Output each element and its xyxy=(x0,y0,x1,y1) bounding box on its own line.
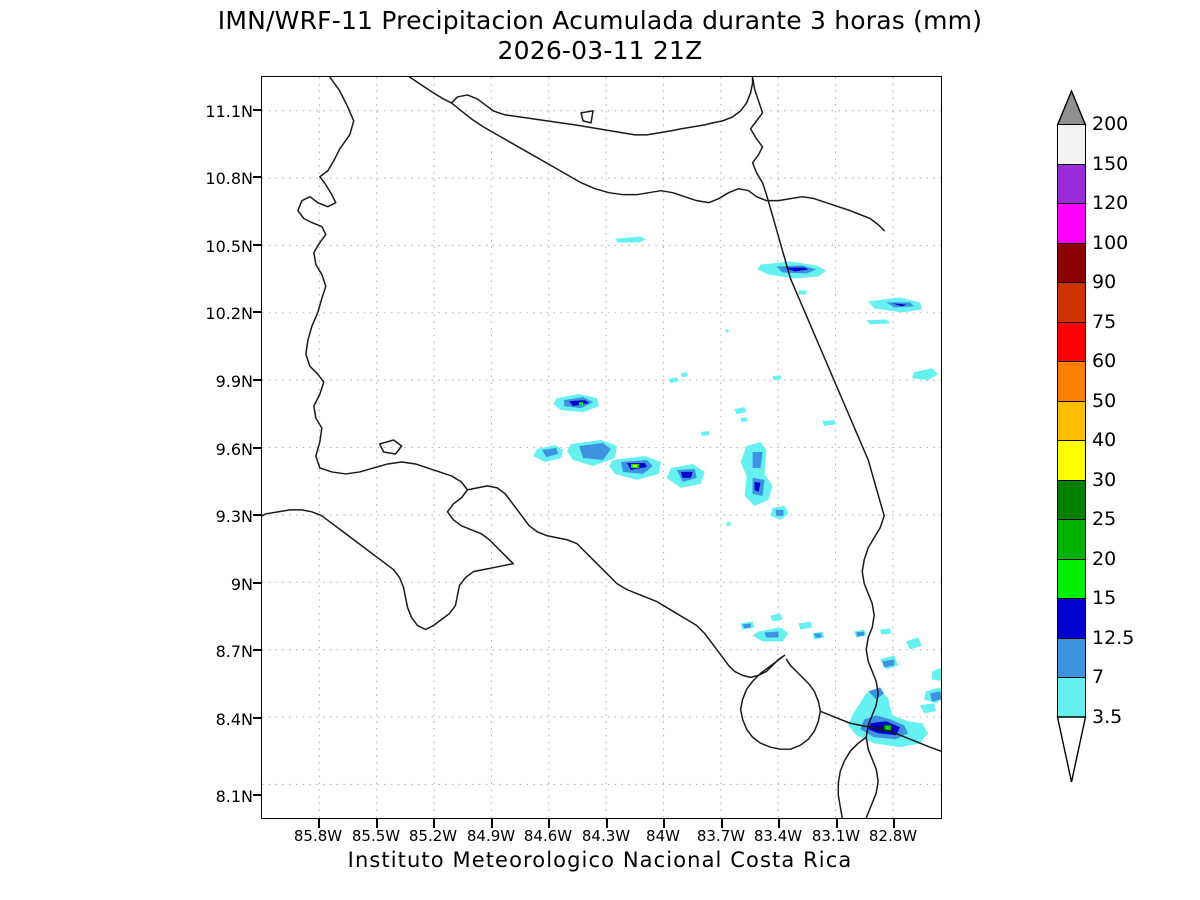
x-axis-label: 84.9W xyxy=(461,827,521,845)
colorbar-segment-25-30 xyxy=(1057,480,1086,520)
y-axis-tick xyxy=(253,379,262,381)
colorbar-tick-200: 200 xyxy=(1092,115,1128,134)
y-axis-label: 9.3N xyxy=(198,507,253,526)
y-axis-tick xyxy=(253,514,262,516)
map-plot-area xyxy=(261,76,942,819)
colorbar-tick-30: 30 xyxy=(1092,471,1116,490)
precip-cell-dot-b xyxy=(701,431,731,526)
colorbar-tick-90: 90 xyxy=(1092,273,1116,292)
colorbar-tick-25: 25 xyxy=(1092,510,1116,529)
precip-cordillera-c xyxy=(667,464,705,488)
y-axis-label: 8.7N xyxy=(198,642,253,661)
precip-pacific-central xyxy=(553,394,599,412)
colorbar-segment-150-200 xyxy=(1057,124,1086,164)
figure-title: IMN/WRF-11 Precipitacion Acumulada duran… xyxy=(0,6,1200,66)
colorbar-tick-150: 150 xyxy=(1092,155,1128,174)
x-axis-label: 84.3W xyxy=(576,827,636,845)
y-axis-tick xyxy=(253,649,262,651)
x-axis-label: 85.2W xyxy=(403,827,463,845)
y-axis-tick xyxy=(253,109,262,111)
y-axis-tick xyxy=(253,311,262,313)
colorbar-bar xyxy=(1057,124,1086,756)
colorbar-segment-75-90 xyxy=(1057,282,1086,322)
colorbar-bottom-arrow-icon xyxy=(1052,716,1091,784)
precip-cordillera-core xyxy=(609,456,661,480)
colorbar-segment-40-50 xyxy=(1057,401,1086,441)
colorbar-tick-100: 100 xyxy=(1092,234,1128,253)
x-axis-label: 82.8W xyxy=(863,827,923,845)
y-axis-label: 8.4N xyxy=(198,710,253,729)
precip-ne-corner xyxy=(912,368,938,380)
precip-osa-coast xyxy=(753,628,789,642)
colorbar-segment-90-100 xyxy=(1057,243,1086,283)
precip-cell-isolated-south xyxy=(771,506,789,520)
y-axis-tick xyxy=(253,582,262,584)
weather-map-figure: IMN/WRF-11 Precipitacion Acumulada duran… xyxy=(0,0,1200,900)
colorbar-tick-50: 50 xyxy=(1092,392,1116,411)
colorbar-segment-12.5-15 xyxy=(1057,598,1086,638)
y-axis-label: 8.1N xyxy=(198,787,253,806)
precip-cordillera-a xyxy=(533,445,563,462)
colorbar-tick-20: 20 xyxy=(1092,550,1116,569)
x-axis-label: 83.1W xyxy=(806,827,866,845)
y-axis-label: 10.5N xyxy=(198,237,253,256)
colorbar-segment-3.5-7 xyxy=(1057,677,1086,717)
colorbar-top-arrow-icon xyxy=(1052,90,1091,126)
y-axis-label: 9.9N xyxy=(198,372,253,391)
precip-panama-core xyxy=(848,687,928,747)
colorbar-tick-3.5: 3.5 xyxy=(1092,708,1122,727)
y-axis-label: 10.2N xyxy=(198,304,253,323)
precip-caribbean-north xyxy=(758,262,827,279)
x-axis-label: 85.5W xyxy=(346,827,406,845)
colorbar-segment-100-120 xyxy=(1057,203,1086,243)
precip-east-offshore-cells xyxy=(741,614,941,714)
colorbar-tick-40: 40 xyxy=(1092,431,1116,450)
title-line-1: IMN/WRF-11 Precipitacion Acumulada duran… xyxy=(0,6,1200,36)
colorbar-tick-7: 7 xyxy=(1092,668,1104,687)
precip-caribbean-east-dot xyxy=(798,290,806,294)
y-axis-tick xyxy=(253,717,262,719)
x-axis-label: 84W xyxy=(637,827,689,845)
y-axis-tick xyxy=(253,794,262,796)
colorbar-segment-7-12.5 xyxy=(1057,638,1086,678)
precip-dot-a xyxy=(726,329,729,332)
y-axis-label: 10.8N xyxy=(198,169,253,188)
y-axis-tick xyxy=(253,244,262,246)
y-axis-tick xyxy=(253,447,262,449)
y-axis-label: 11.1N xyxy=(198,102,253,121)
colorbar-segment-50-60 xyxy=(1057,361,1086,401)
colorbar-segment-30-40 xyxy=(1057,440,1086,480)
precip-se-specks xyxy=(812,629,891,640)
precip-cordillera-b xyxy=(567,440,617,466)
colorbar-segment-60-75 xyxy=(1057,322,1086,362)
precip-caribbean-east xyxy=(868,297,922,312)
precip-north-sliver xyxy=(616,237,646,243)
colorbar-tick-75: 75 xyxy=(1092,313,1116,332)
y-axis-tick xyxy=(253,176,262,178)
y-axis-label: 9.6N xyxy=(198,440,253,459)
x-axis-label: 85.8W xyxy=(288,827,348,845)
x-axis-label: 84.6W xyxy=(518,827,578,845)
colorbar-segment-120-150 xyxy=(1057,164,1086,204)
colorbar-tick-120: 120 xyxy=(1092,194,1128,213)
x-axis-label: 83.7W xyxy=(691,827,751,845)
colorbar-segment-20-25 xyxy=(1057,519,1086,559)
colorbar-segment-15-20 xyxy=(1057,559,1086,599)
precip-caribbean-east-small xyxy=(866,319,890,324)
y-axis-label: 9N xyxy=(198,575,253,594)
colorbar-tick-12.5: 12.5 xyxy=(1092,629,1134,648)
x-axis-label: 83.4W xyxy=(748,827,808,845)
title-line-2: 2026-03-11 21Z xyxy=(0,36,1200,66)
colorbar-tick-15: 15 xyxy=(1092,589,1116,608)
map-canvas xyxy=(262,77,941,818)
precip-talamanca-chain xyxy=(741,442,773,506)
colorbar-tick-60: 60 xyxy=(1092,352,1116,371)
footer-credit: Instituto Meteorologico Nacional Costa R… xyxy=(0,848,1200,872)
